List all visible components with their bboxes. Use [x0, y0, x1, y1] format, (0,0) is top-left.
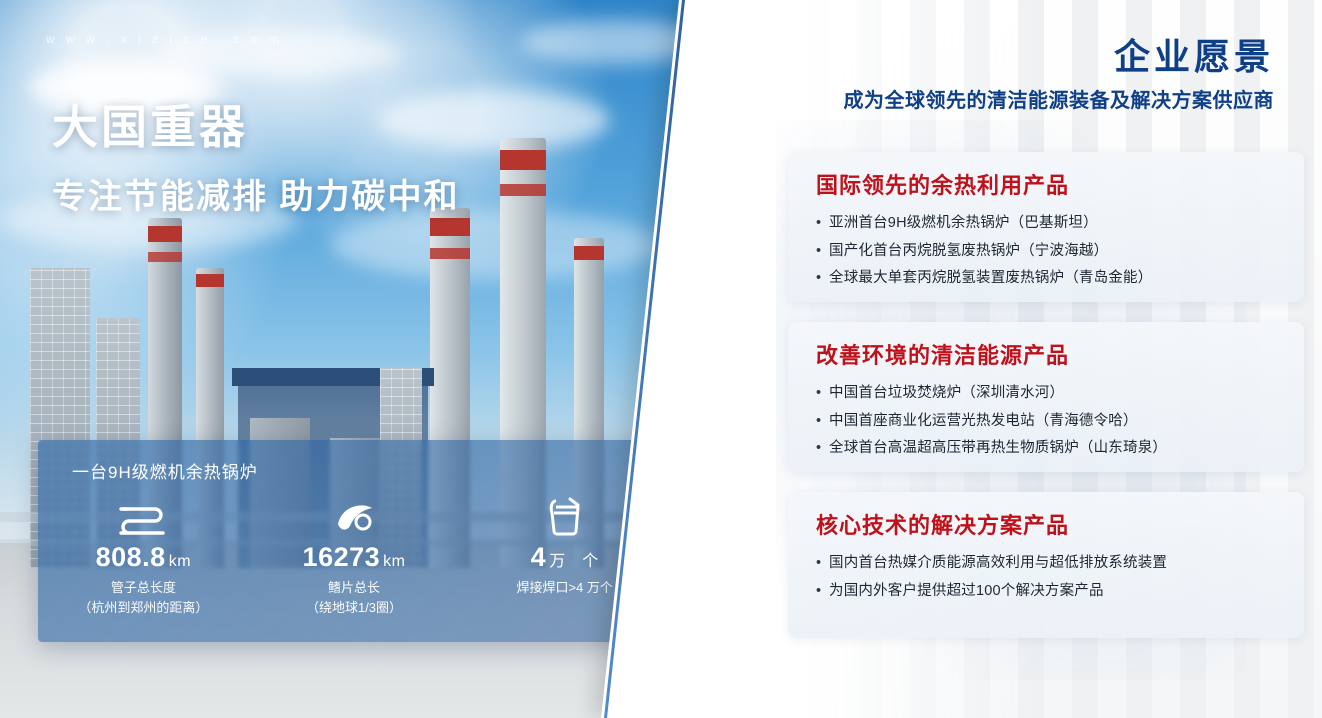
- vision-card: 国际领先的余热利用产品 亚洲首台9H级燃机余热锅炉（巴基斯坦） 国产化首台丙烷脱…: [788, 152, 1304, 302]
- headline-block: 大国重器 专注节能减排 助力碳中和: [52, 100, 459, 218]
- vision-card: 核心技术的解决方案产品 国内首台热媒介质能源高效利用与超低排放系统装置 为国内外…: [788, 492, 1304, 638]
- stat-unit: km: [383, 553, 405, 570]
- stat-label: 鳍片总长 （绕地球1/3圈）: [249, 578, 460, 617]
- right-content-panel: 企业愿景 成为全球领先的清洁能源装备及解决方案供应商 国际领先的余热利用产品 亚…: [716, 0, 1322, 718]
- stats-card-title: 一台9H级燃机余热锅炉: [72, 458, 258, 483]
- vision-card-heading: 国际领先的余热利用产品: [788, 152, 1304, 210]
- stack-band: [500, 150, 546, 170]
- vision-card-list: 国内首台热媒介质能源高效利用与超低排放系统装置 为国内外客户提供超过100个解决…: [788, 550, 1304, 621]
- stat-label-line1: 鳍片总长: [249, 578, 460, 598]
- stats-row: 808.8km 管子总长度 （杭州到郑州的距离）: [38, 496, 670, 617]
- stack-band: [430, 218, 470, 236]
- slide-root: w w w . x i z i c e . c o m 大国重器 专注节能减排 …: [0, 0, 1322, 718]
- stack-band: [196, 274, 224, 287]
- list-item: 中国首台垃圾焚烧炉（深圳清水河）: [816, 380, 1286, 408]
- stat-label-line2: （绕地球1/3圈）: [249, 598, 460, 618]
- cloud-shape: [330, 210, 660, 280]
- page-title: 企业愿景: [1114, 28, 1274, 80]
- stack-band: [500, 184, 546, 196]
- stack-band: [148, 226, 182, 242]
- stat-value: 16273km: [249, 542, 460, 573]
- stack-band: [574, 246, 604, 260]
- stat-number: 808.8: [96, 542, 166, 572]
- list-item: 亚洲首台9H级燃机余热锅炉（巴基斯坦）: [816, 210, 1286, 238]
- list-item: 中国首座商业化运营光热发电站（青海德令哈）: [816, 408, 1286, 436]
- list-item: 全球最大单套丙烷脱氢装置废热锅炉（青岛金能）: [816, 265, 1286, 293]
- headline-sub: 专注节能减排 助力碳中和: [52, 169, 459, 218]
- stats-card: 一台9H级燃机余热锅炉 808.8km 管子总长度 （杭州到郑州的距离）: [38, 440, 670, 642]
- list-item: 全球首台高温超高压带再热生物质锅炉（山东琦泉）: [816, 435, 1286, 463]
- stat-label-line2: （杭州到郑州的距离）: [38, 598, 249, 618]
- stack-band: [430, 248, 470, 259]
- page-subtitle: 成为全球领先的清洁能源装备及解决方案供应商: [844, 84, 1275, 113]
- stat-unit: 万 个: [549, 553, 599, 570]
- stat-item: 16273km 鳍片总长 （绕地球1/3圈）: [249, 496, 460, 617]
- vision-card-list: 亚洲首台9H级燃机余热锅炉（巴基斯坦） 国产化首台丙烷脱氢废热锅炉（宁波海越） …: [788, 210, 1304, 309]
- stat-unit: km: [169, 553, 191, 570]
- coil-pipe-icon: [38, 496, 249, 538]
- site-watermark: w w w . x i z i c e . c o m: [46, 32, 283, 46]
- left-photo-panel: w w w . x i z i c e . c o m 大国重器 专注节能减排 …: [0, 0, 716, 718]
- stat-number: 16273: [303, 542, 381, 572]
- vision-card-heading: 改善环境的清洁能源产品: [788, 322, 1304, 380]
- stat-value: 808.8km: [38, 542, 249, 573]
- stat-label: 管子总长度 （杭州到郑州的距离）: [38, 578, 249, 617]
- vision-card-heading: 核心技术的解决方案产品: [788, 492, 1304, 550]
- list-item: 国产化首台丙烷脱氢废热锅炉（宁波海越）: [816, 238, 1286, 266]
- stat-label-line1: 管子总长度: [38, 578, 249, 598]
- list-item: 为国内外客户提供超过100个解决方案产品: [816, 578, 1286, 606]
- vision-card: 改善环境的清洁能源产品 中国首台垃圾焚烧炉（深圳清水河） 中国首座商业化运营光热…: [788, 322, 1304, 472]
- headline-main: 大国重器: [52, 100, 459, 155]
- stack-band: [148, 252, 182, 262]
- stat-item: 808.8km 管子总长度 （杭州到郑州的距离）: [38, 496, 249, 617]
- fin-swirl-icon: [249, 496, 460, 538]
- stat-number: 4: [531, 542, 547, 572]
- list-item: 国内首台热媒介质能源高效利用与超低排放系统装置: [816, 550, 1286, 578]
- vision-card-list: 中国首台垃圾焚烧炉（深圳清水河） 中国首座商业化运营光热发电站（青海德令哈） 全…: [788, 380, 1304, 479]
